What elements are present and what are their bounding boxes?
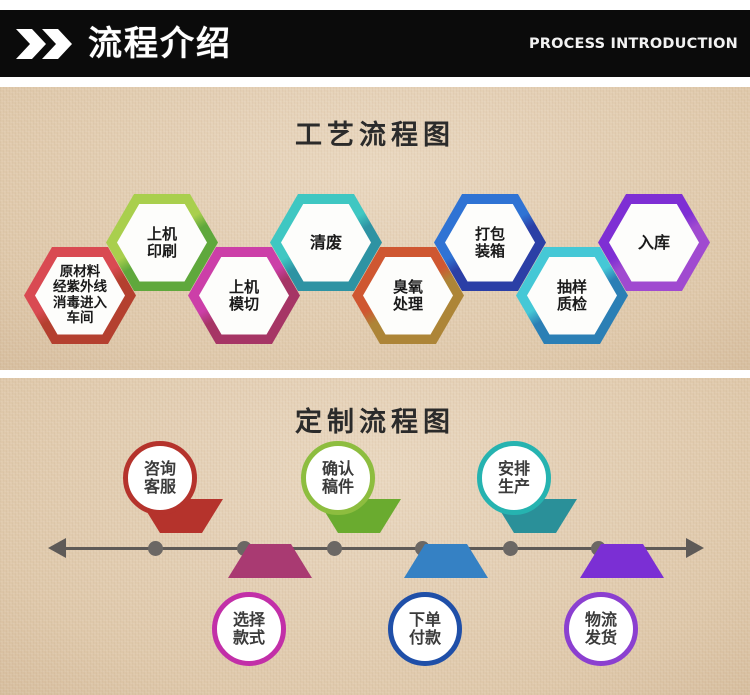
- pin-step-2: 确认稿件: [301, 441, 375, 515]
- hexagon-label-line: 打包: [475, 226, 505, 243]
- hexagon-flow-diagram: 原材料经紫外线消毒进入车间上机印刷上机模切清废臭氧处理打包装箱抽样质检入库: [0, 87, 750, 370]
- pin-tail: [404, 544, 488, 578]
- page-title: 流程介绍: [88, 27, 232, 61]
- hexagon-step-label: 入库: [598, 194, 710, 291]
- timeline-dot-5: [503, 541, 518, 556]
- pin-step-5: 下单付款: [388, 570, 462, 666]
- hexagon-label-line: 入库: [638, 234, 670, 252]
- hexagon-label-line: 处理: [393, 296, 423, 313]
- pin-step-4: 选择款式: [212, 570, 286, 666]
- pin-label-line: 咨询: [144, 460, 176, 478]
- custom-flow-title: 定制流程图: [0, 400, 750, 439]
- timeline-dot-1: [148, 541, 163, 556]
- process-flow-panel: 工艺流程图 原材料经紫外线消毒进入车间上机印刷上机模切清废臭氧处理打包装箱抽样质…: [0, 87, 750, 370]
- double-chevron-right-icon: [14, 27, 76, 61]
- pin-step-6: 物流发货: [564, 570, 638, 666]
- pin-label-line: 安排: [498, 460, 530, 478]
- pin-step-1: 咨询客服: [123, 441, 197, 515]
- pin-bulb: 物流发货: [564, 592, 638, 666]
- pin-label-line: 物流: [585, 611, 617, 629]
- pin-label-line: 下单: [409, 611, 441, 629]
- pin-bulb: 确认稿件: [301, 441, 375, 515]
- pin-bulb: 下单付款: [388, 592, 462, 666]
- hexagon-label-line: 清废: [310, 234, 342, 252]
- hexagon-label-line: 臭氧: [393, 279, 423, 296]
- pin-label-line: 生产: [498, 478, 530, 496]
- hexagon-label-line: 经紫外线: [53, 280, 107, 295]
- pin-bulb: 选择款式: [212, 592, 286, 666]
- pin-label-line: 选择: [233, 611, 265, 629]
- pin-label-line: 客服: [144, 478, 176, 496]
- page-subtitle: PROCESS INTRODUCTION: [529, 36, 738, 52]
- hexagon-label-line: 质检: [557, 296, 587, 313]
- pin-tail: [228, 544, 312, 578]
- pin-bulb: 咨询客服: [123, 441, 197, 515]
- hexagon-label-line: 上机: [147, 226, 177, 243]
- pin-step-3: 安排生产: [477, 441, 551, 515]
- hexagon-label-line: 装箱: [475, 243, 505, 260]
- timeline-dot-3: [327, 541, 342, 556]
- hexagon-step-8: 入库: [598, 194, 710, 291]
- pin-label-line: 稿件: [322, 478, 354, 496]
- pin-label-line: 款式: [233, 629, 265, 647]
- hexagon-label-line: 印刷: [147, 243, 177, 260]
- hexagon-label-line: 消毒进入: [53, 296, 107, 311]
- hexagon-label-line: 车间: [67, 311, 94, 326]
- pin-bulb: 安排生产: [477, 441, 551, 515]
- pin-label-line: 付款: [409, 629, 441, 647]
- arrow-right-icon: [686, 538, 704, 558]
- hexagon-label-line: 抽样: [557, 279, 587, 296]
- pin-tail: [580, 544, 664, 578]
- pin-label-line: 确认: [322, 460, 354, 478]
- pin-label-line: 发货: [585, 629, 617, 647]
- hexagon-label-line: 上机: [229, 279, 259, 296]
- page-header: 流程介绍 PROCESS INTRODUCTION: [0, 10, 750, 77]
- hexagon-label-line: 模切: [229, 296, 259, 313]
- arrow-left-icon: [48, 538, 66, 558]
